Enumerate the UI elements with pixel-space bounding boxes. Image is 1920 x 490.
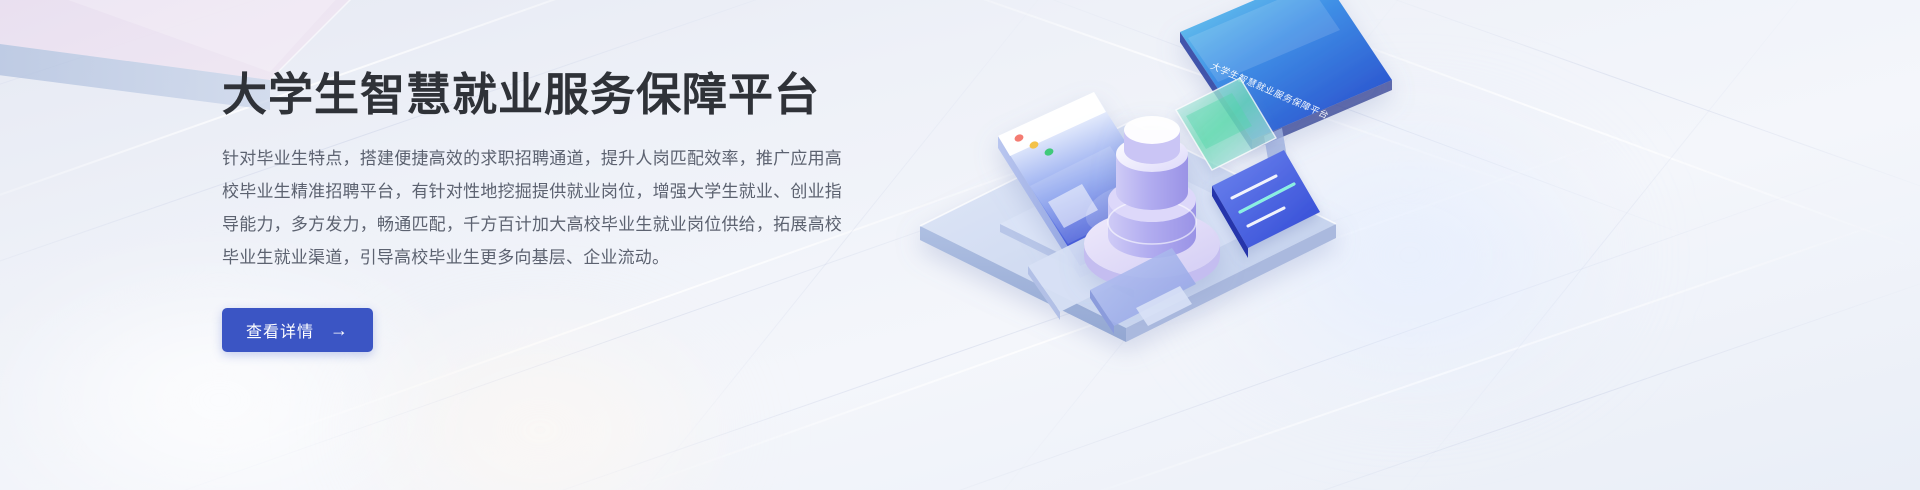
banner-description: 针对毕业生特点，搭建便捷高效的求职招聘通道，提升人岗匹配效率，推广应用高校毕业生…: [222, 142, 882, 274]
banner-content: 大学生智慧就业服务保障平台 针对毕业生特点，搭建便捷高效的求职招聘通道，提升人岗…: [222, 70, 882, 352]
description-text: 针对毕业生特点，搭建便捷高效的求职招聘通道，提升人岗匹配效率，推广应用高校毕业生…: [222, 142, 842, 274]
isometric-illustration: 大学生智慧就业服务保障平台: [880, 0, 1400, 320]
view-details-label: 查看详情: [246, 318, 314, 342]
view-details-button[interactable]: 查看详情 →: [222, 308, 373, 352]
arrow-right-icon: →: [330, 321, 349, 339]
page-title: 大学生智慧就业服务保障平台: [222, 70, 882, 120]
hero-banner: 大学生智慧就业服务保障平台 针对毕业生特点，搭建便捷高效的求职招聘通道，提升人岗…: [0, 0, 1920, 490]
